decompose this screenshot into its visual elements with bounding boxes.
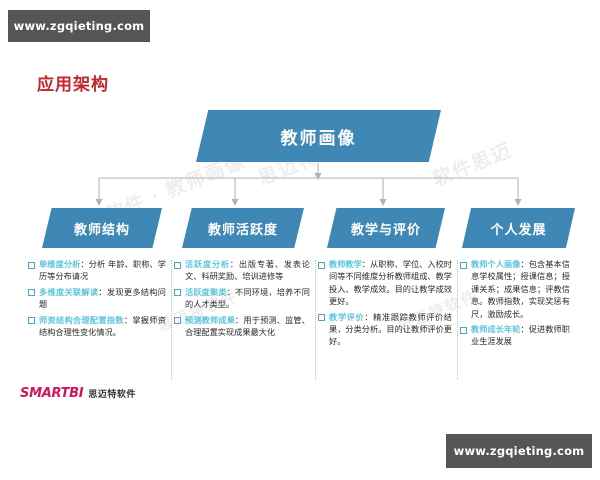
watermark-bar-bottom: www.zgqieting.com: [446, 434, 592, 468]
detail-bullet-item: 预测教师成果：用于预测、监管、合理配置实现成果最大化: [174, 314, 310, 339]
square-bullet-icon: [28, 289, 35, 296]
detail-bullet-item: 多维度关联解读：发现更多结构问题: [28, 286, 166, 311]
diagonal-watermark-3: 软件思迈: [428, 135, 516, 192]
detail-bullet-term: 教学评价: [329, 312, 364, 322]
category-node-label: 个人发展: [490, 219, 546, 238]
logo-wordmark: SMARTBI: [20, 386, 83, 401]
detail-bullet-item: 活跃度聚类：不同环境，培养不同的人才类型。: [174, 286, 310, 311]
detail-bullet-text: 师资结构合理配置指数：掌握师资结构合理性变化情况。: [39, 314, 166, 339]
category-node-label: 教学与评价: [351, 219, 421, 238]
square-bullet-icon: [318, 262, 325, 269]
detail-bullet-item: 教师成长年轮：促进教师职业生涯发展: [460, 323, 570, 348]
detail-bullet-term: 教师成长年轮: [471, 324, 521, 334]
detail-bullet-item: 师资结构合理配置指数：掌握师资结构合理性变化情况。: [28, 314, 166, 339]
detail-bullet-term: 多维度关联解读: [39, 287, 98, 297]
detail-bullet-separator: ：: [521, 259, 529, 269]
square-bullet-icon: [174, 289, 181, 296]
category-node-label: 教师结构: [74, 219, 130, 238]
square-bullet-icon: [174, 262, 181, 269]
square-bullet-icon: [460, 262, 467, 269]
detail-bullet-item: 教师个人画像：包含基本信息学校属性；授课信息；授课关系；成果信息；评教信息。教师…: [460, 258, 570, 320]
detail-bullet-separator: ：: [362, 259, 370, 269]
category-node-teacher-activity[interactable]: 教师活跃度: [182, 208, 304, 248]
detail-bullet-text: 教师成长年轮：促进教师职业生涯发展: [471, 323, 570, 348]
detail-bullet-text: 活跃度分析：出版专著、发表论文、科研奖励、培训进修等: [185, 258, 310, 283]
detail-bullet-separator: ：: [227, 287, 235, 297]
detail-column-personal-development: 教师个人画像：包含基本信息学校属性；授课信息；授课关系；成果信息；评教信息。教师…: [460, 258, 578, 376]
category-node-teaching-evaluation[interactable]: 教学与评价: [327, 208, 445, 248]
detail-column-teacher-activity: 活跃度分析：出版专著、发表论文、科研奖励、培训进修等活跃度聚类：不同环境，培养不…: [174, 258, 318, 376]
detail-bullet-separator: ：: [80, 259, 88, 269]
category-node-label: 教师活跃度: [208, 219, 278, 238]
detail-bullet-text: 单维度分析：分析 年龄、职称、学历等分布请况: [39, 258, 166, 283]
detail-bullet-item: 教学评价：精准跟踪教师评价结果，分类分析。目的让教师评价更好。: [318, 311, 452, 348]
detail-column-teaching-evaluation: 教师教学：从职称、学位、入校时间等不同维度分析教师组成、教学投入、教学成效。目的…: [318, 258, 460, 376]
square-bullet-icon: [318, 314, 325, 321]
detail-bullet-term: 教师个人画像: [471, 259, 521, 269]
detail-bullet-item: 活跃度分析：出版专著、发表论文、科研奖励、培训进修等: [174, 258, 310, 283]
detail-bullet-term: 单维度分析: [39, 259, 80, 269]
detail-columns: 单维度分析：分析 年龄、职称、学历等分布请况多维度关联解读：发现更多结构问题师资…: [28, 258, 578, 376]
detail-bullet-separator: ：: [230, 259, 239, 269]
category-node-teacher-structure[interactable]: 教师结构: [42, 208, 162, 248]
detail-bullet-text: 预测教师成果：用于预测、监管、合理配置实现成果最大化: [185, 314, 310, 339]
square-bullet-icon: [460, 327, 467, 334]
detail-bullet-text: 教师个人画像：包含基本信息学校属性；授课信息；授课关系；成果信息；评教信息。教师…: [471, 258, 570, 320]
detail-bullet-term: 教师教学: [329, 259, 362, 269]
column-separator: [171, 260, 172, 380]
square-bullet-icon: [28, 262, 35, 269]
detail-bullet-item: 教师教学：从职称、学位、入校时间等不同维度分析教师组成、教学投入、教学成效。目的…: [318, 258, 452, 308]
detail-bullet-term: 活跃度分析: [185, 259, 230, 269]
root-node-label: 教师画像: [281, 124, 357, 149]
root-node-teacher-profile[interactable]: 教师画像: [196, 110, 441, 162]
detail-bullet-separator: ：: [521, 324, 529, 334]
watermark-bar-top: www.zgqieting.com: [8, 10, 150, 42]
detail-bullet-separator: ：: [98, 287, 106, 297]
square-bullet-icon: [174, 317, 181, 324]
detail-bullet-separator: ：: [364, 312, 373, 322]
square-bullet-icon: [28, 317, 35, 324]
detail-bullet-text: 活跃度聚类：不同环境，培养不同的人才类型。: [185, 286, 310, 311]
detail-column-teacher-structure: 单维度分析：分析 年龄、职称、学历等分布请况多维度关联解读：发现更多结构问题师资…: [28, 258, 174, 376]
detail-bullet-text: 教学评价：精准跟踪教师评价结果，分类分析。目的让教师评价更好。: [329, 311, 452, 348]
detail-bullet-term: 活跃度聚类: [185, 287, 227, 297]
page-title: 应用架构: [37, 70, 109, 95]
detail-bullet-text: 教师教学：从职称、学位、入校时间等不同维度分析教师组成、教学投入、教学成效。目的…: [329, 258, 452, 308]
column-separator: [315, 260, 316, 380]
detail-bullet-term: 师资结构合理配置指数: [39, 315, 124, 325]
smartbi-logo: SMARTBI 思迈特软件: [20, 386, 136, 401]
logo-company-name: 思迈特软件: [88, 387, 136, 400]
detail-bullet-item: 单维度分析：分析 年龄、职称、学历等分布请况: [28, 258, 166, 283]
column-separator: [457, 260, 458, 380]
category-node-personal-development[interactable]: 个人发展: [462, 208, 575, 248]
detail-bullet-text: 多维度关联解读：发现更多结构问题: [39, 286, 166, 311]
detail-bullet-term: 预测教师成果: [185, 315, 235, 325]
